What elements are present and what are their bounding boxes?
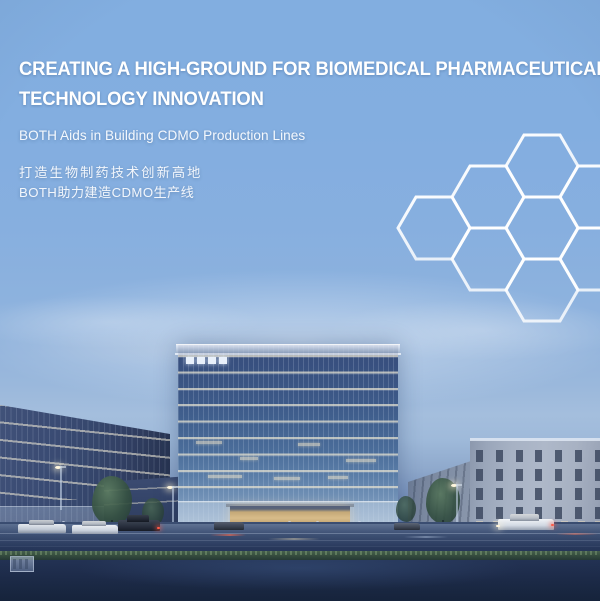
lane-marking: [0, 546, 600, 547]
light-streak: [404, 536, 448, 538]
window-column: [476, 450, 483, 524]
car: [72, 525, 118, 534]
lit-window: [346, 459, 376, 462]
taillight: [157, 527, 160, 529]
lit-window: [274, 477, 300, 480]
window-column: [595, 450, 600, 524]
window-column: [496, 450, 503, 524]
rooftop-parapet: [176, 344, 400, 353]
chinese-copy-block: 打造生物制药技术创新高地 BOTH助力建造CDMO生产线: [19, 163, 559, 203]
light-streak: [268, 538, 320, 540]
street-lamp: [56, 466, 68, 510]
tree: [396, 496, 416, 522]
sign-character-block: [208, 357, 216, 364]
car-cabin: [127, 515, 149, 521]
sign-character-block: [186, 357, 194, 364]
car-cabin: [510, 514, 539, 520]
center-glass-tower: [178, 345, 398, 531]
chinese-title: 打造生物制药技术创新高地: [19, 163, 559, 183]
lamp-pole: [60, 466, 62, 510]
car: [118, 520, 160, 531]
sign-character-block: [219, 357, 227, 364]
light-streak: [556, 533, 598, 535]
roadside-signboard: [10, 556, 34, 572]
window-column: [516, 450, 523, 524]
light-streak: [210, 534, 246, 536]
lit-window: [328, 476, 348, 479]
page-title-line-1: CREATING A HIGH-GROUND FOR BIOMEDICAL PH…: [19, 54, 529, 84]
window-column: [535, 450, 542, 524]
car: [498, 519, 554, 530]
sign-character-block: [197, 357, 205, 364]
taillight: [551, 524, 554, 526]
roof-edge: [175, 353, 401, 355]
window-column: [575, 450, 582, 524]
roof-edge: [470, 438, 600, 441]
hero-banner: CREATING A HIGH-GROUND FOR BIOMEDICAL PH…: [0, 0, 600, 601]
foreground-reflection: [0, 560, 600, 601]
subtitle: BOTH Aids in Building CDMO Production Li…: [19, 127, 559, 145]
window-column: [555, 450, 562, 524]
street-lamp: [168, 486, 180, 526]
roadside-hedge: [0, 551, 600, 560]
window-columns: [476, 450, 600, 524]
rooftop-sign: [186, 357, 227, 364]
lane-marking: [0, 540, 600, 541]
lamp-pole: [456, 484, 458, 526]
lit-window: [240, 457, 258, 460]
lit-window: [196, 441, 222, 444]
chinese-subtitle: BOTH助力建造CDMO生产线: [19, 183, 559, 203]
lit-window: [208, 475, 242, 478]
car: [394, 523, 420, 530]
lamp-pole: [172, 486, 174, 526]
banner-copy: CREATING A HIGH-GROUND FOR BIOMEDICAL PH…: [19, 54, 559, 203]
car-cabin: [82, 521, 106, 526]
page-title-line-2: TECHNOLOGY INNOVATION: [19, 84, 529, 114]
lit-window: [298, 443, 320, 446]
car: [18, 524, 66, 533]
floor-bands: [178, 355, 398, 503]
car: [214, 522, 244, 530]
car-cabin: [29, 520, 54, 525]
tree: [92, 476, 132, 526]
street-lamp: [452, 484, 464, 526]
headlight: [496, 525, 500, 527]
